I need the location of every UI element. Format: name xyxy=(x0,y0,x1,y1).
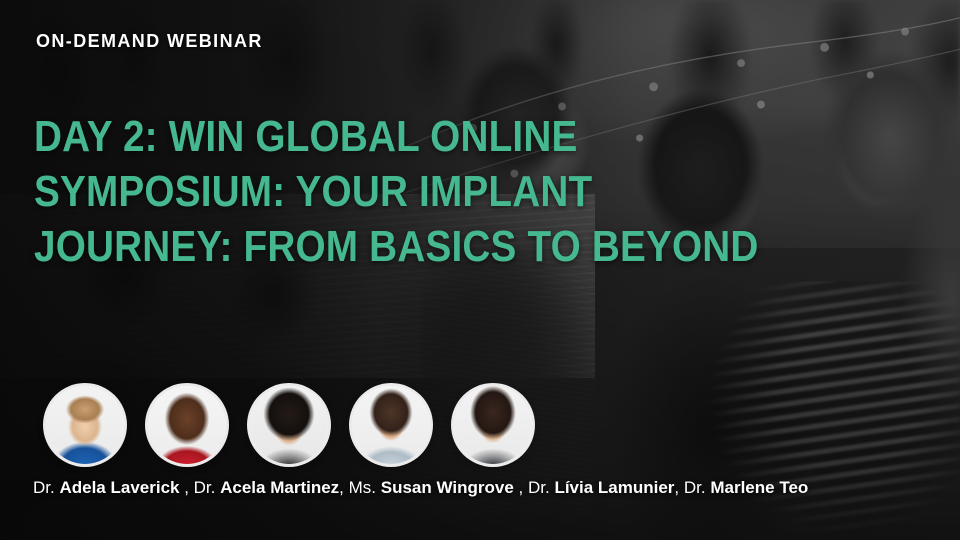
speaker-separator-4: , xyxy=(674,478,683,497)
headline-line-3: JOURNEY: FROM BASICS TO BEYOND xyxy=(34,219,597,274)
speaker-name-5: Marlene Teo xyxy=(710,478,808,497)
speaker-name-3: Susan Wingrove xyxy=(381,478,514,497)
speaker-photo-acela-martinez xyxy=(148,386,226,464)
page-title: DAY 2: WIN GLOBAL ONLINE SYMPOSIUM: YOUR… xyxy=(34,109,597,274)
speaker-separator-2: , xyxy=(339,478,348,497)
speaker-title-3: Ms. xyxy=(349,478,376,497)
speaker-title-5: Dr. xyxy=(684,478,706,497)
banner-content: ON-DEMAND WEBINAR DAY 2: WIN GLOBAL ONLI… xyxy=(0,0,960,540)
speaker-separator-3: , xyxy=(514,478,528,497)
headline-line-2: SYMPOSIUM: YOUR IMPLANT xyxy=(34,164,597,219)
speaker-photo-marlene-teo xyxy=(454,386,532,464)
speaker-title-4: Dr. xyxy=(528,478,550,497)
speaker-name-4: Lívia Lamunier xyxy=(554,478,674,497)
speaker-separator-1: , xyxy=(179,478,193,497)
speaker-names-line: Dr. Adela Laverick , Dr. Acela Martinez,… xyxy=(33,478,808,498)
avatar[interactable] xyxy=(46,386,124,464)
speaker-title-1: Dr. xyxy=(33,478,55,497)
speaker-photo-susan-wingrove xyxy=(250,386,328,464)
avatar[interactable] xyxy=(250,386,328,464)
speaker-title-2: Dr. xyxy=(194,478,216,497)
avatar[interactable] xyxy=(148,386,226,464)
speaker-avatar-row xyxy=(46,386,532,464)
eyebrow-label: ON-DEMAND WEBINAR xyxy=(36,32,263,50)
speaker-photo-livia-lamunier xyxy=(352,386,430,464)
avatar[interactable] xyxy=(454,386,532,464)
speaker-photo-adela-laverick xyxy=(46,386,124,464)
speaker-name-2: Acela Martinez xyxy=(220,478,339,497)
webinar-banner: ON-DEMAND WEBINAR DAY 2: WIN GLOBAL ONLI… xyxy=(0,0,960,540)
speaker-name-1: Adela Laverick xyxy=(59,478,179,497)
headline-line-1: DAY 2: WIN GLOBAL ONLINE xyxy=(34,109,597,164)
avatar[interactable] xyxy=(352,386,430,464)
